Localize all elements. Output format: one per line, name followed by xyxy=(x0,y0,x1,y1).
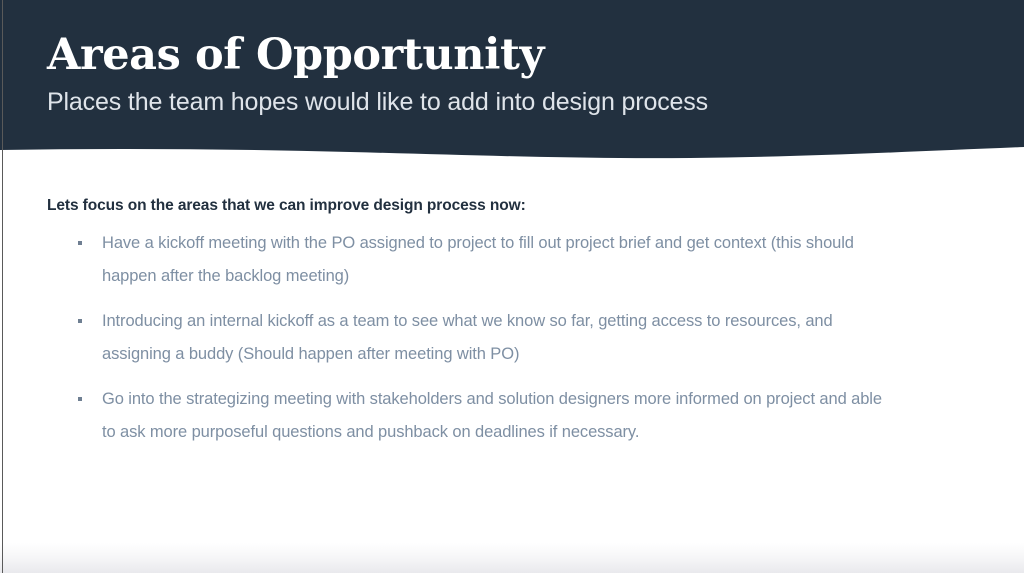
list-item-text: Have a kickoff meeting with the PO assig… xyxy=(102,227,888,293)
presentation-slide: Areas of Opportunity Places the team hop… xyxy=(0,0,1024,573)
bullet-marker-icon xyxy=(78,397,82,401)
slide-header: Areas of Opportunity Places the team hop… xyxy=(0,0,1024,175)
list-item-text: Introducing an internal kickoff as a tea… xyxy=(102,305,888,371)
page-subtitle: Places the team hopes would like to add … xyxy=(47,86,947,118)
bullet-marker-icon xyxy=(78,241,82,245)
slide-body: Lets focus on the areas that we can impr… xyxy=(0,175,1024,573)
page-title: Areas of Opportunity xyxy=(47,28,947,82)
list-item: Introducing an internal kickoff as a tea… xyxy=(78,305,888,371)
opportunity-bullet-list: Have a kickoff meeting with the PO assig… xyxy=(78,227,888,449)
bullet-marker-icon xyxy=(78,319,82,323)
lead-statement: Lets focus on the areas that we can impr… xyxy=(47,195,526,217)
list-item-text: Go into the strategizing meeting with st… xyxy=(102,383,888,449)
list-item: Have a kickoff meeting with the PO assig… xyxy=(78,227,888,293)
left-edge-divider xyxy=(2,0,3,573)
header-text-block: Areas of Opportunity Places the team hop… xyxy=(47,28,947,118)
list-item: Go into the strategizing meeting with st… xyxy=(78,383,888,449)
